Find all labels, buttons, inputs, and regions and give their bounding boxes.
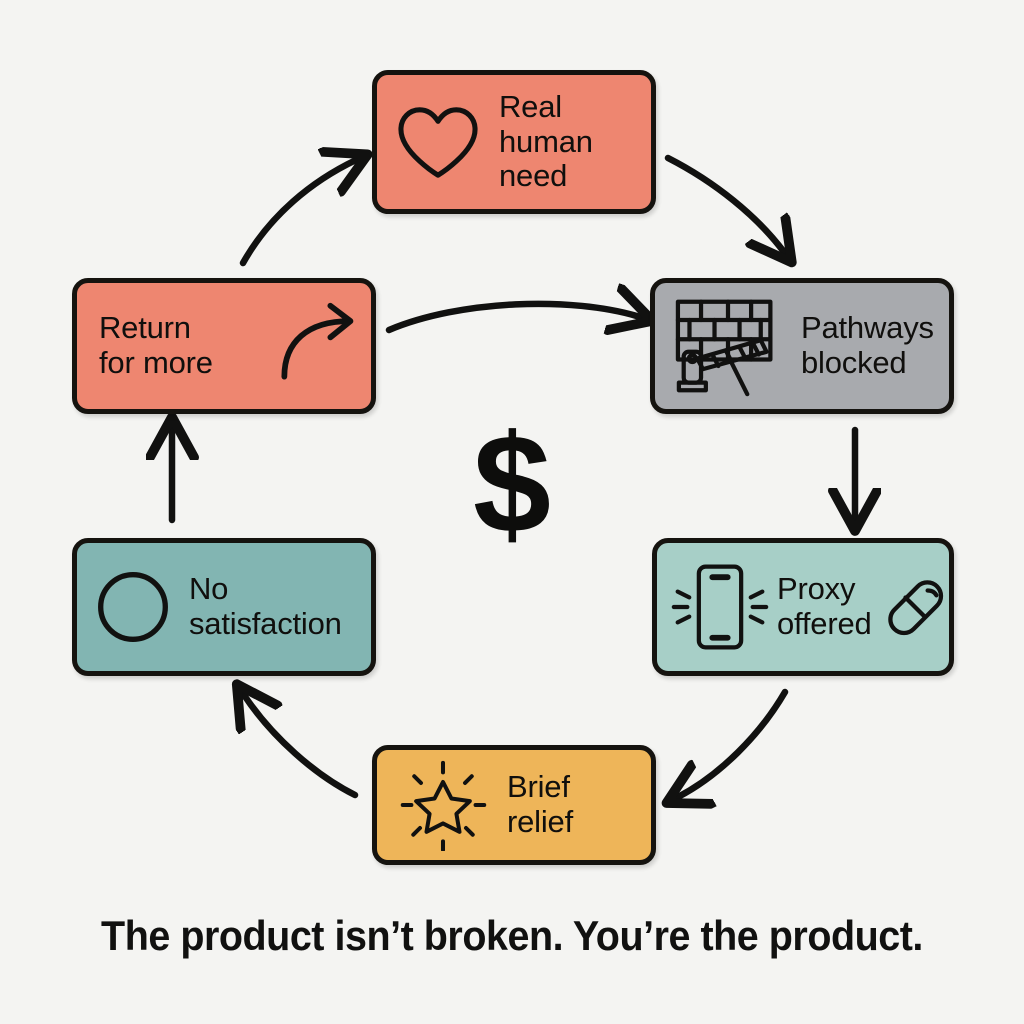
edge-return-to-blocked [389, 304, 640, 330]
node-return-for-more[interactable]: Return for more [72, 278, 376, 414]
heart-icon [395, 103, 481, 181]
node-label: Pathways blocked [801, 311, 934, 380]
diagram-canvas: Real human need [0, 0, 1024, 1024]
node-pathways-blocked[interactable]: Pathways blocked [650, 278, 954, 414]
node-label: Proxy offered [777, 572, 872, 641]
node-no-satisfaction[interactable]: No satisfaction [72, 538, 376, 676]
edge-relief-to-nosat [244, 695, 355, 795]
brick-wall-barrier-icon [669, 294, 787, 398]
dollar-sign: $ [452, 414, 572, 554]
curved-arrow-icon [269, 300, 361, 392]
pill-capsule-icon [880, 572, 950, 642]
empty-circle-icon [95, 569, 171, 645]
caption-text: The product isn’t broken. You’re the pro… [31, 912, 994, 960]
edge-need-to-blocked [668, 158, 784, 252]
node-label: Return for more [99, 311, 213, 380]
node-label: Brief relief [507, 770, 573, 839]
node-label: Real human need [499, 90, 593, 194]
node-real-human-need[interactable]: Real human need [372, 70, 656, 214]
edge-return-to-need [243, 160, 356, 263]
node-proxy-offered[interactable]: Proxy offered [652, 538, 954, 676]
sparkling-star-icon [397, 759, 489, 851]
edge-proxy-to-relief [678, 692, 785, 797]
node-brief-relief[interactable]: Brief relief [372, 745, 656, 865]
node-label: No satisfaction [189, 572, 342, 641]
phone-icon [671, 557, 769, 657]
